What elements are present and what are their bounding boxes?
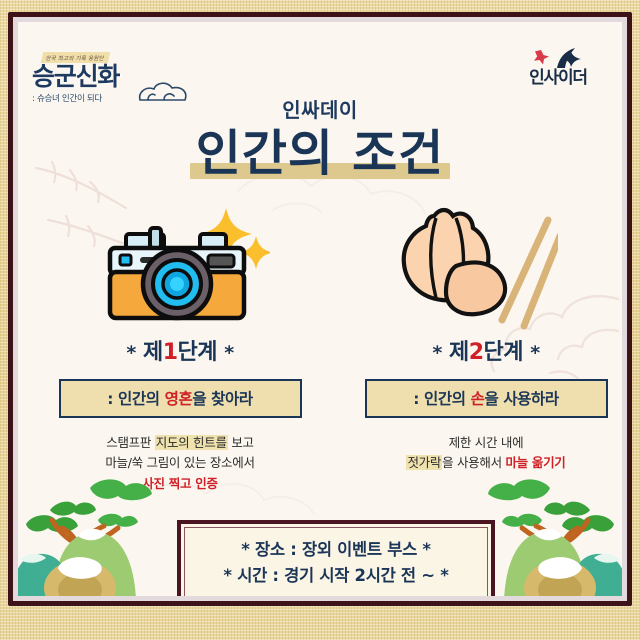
title-main-wrapper: 인간의 조건	[188, 128, 452, 181]
step-1-star-right: *	[224, 342, 233, 364]
logo-insider: 인사이더	[510, 46, 606, 87]
step-2-prefix: 제	[449, 340, 469, 365]
step-2-box-after: 을 사용하라	[484, 390, 558, 408]
illustration-row	[18, 202, 622, 330]
poster-canvas: 한국 최고의 기록 응원단 승군신화 : 슈승녀 인간이 되다	[18, 22, 622, 596]
step-1-number: 1	[163, 340, 178, 365]
title-subtitle: 인싸데이	[18, 94, 622, 123]
maroon-frame: 한국 최고의 기록 응원단 승군신화 : 슈승녀 인간이 되다	[8, 12, 632, 606]
desc-text: 보고	[228, 435, 254, 450]
step-1-suffix: 단계	[178, 340, 217, 365]
step-2-star-right: *	[530, 342, 539, 364]
step-2-box-highlight: 손	[471, 390, 485, 408]
event-info-inner: * 장소 : 장외 이벤트 부스 * * 시간 : 경기 시작 2시간 전 ~ …	[184, 527, 488, 596]
desc-marked: 지도의 힌트를	[155, 435, 228, 450]
garlic-chopsticks-icon	[378, 202, 558, 330]
info-line-location: * 장소 : 장외 이벤트 부스 *	[191, 537, 481, 563]
desc-text: 제한 시간 내에	[449, 435, 524, 450]
info-line-time: * 시간 : 경기 시작 2시간 전 ~ *	[191, 563, 481, 589]
step-2-heading: * 제2단계 *	[336, 334, 622, 366]
step-1-box-before: : 인간의	[107, 390, 164, 408]
step-1-prefix: 제	[143, 340, 163, 365]
step-2-star-left: *	[432, 342, 441, 364]
page-title: 인간의 조건	[188, 128, 452, 181]
logo-tagline: 한국 최고의 기록 응원단	[41, 52, 111, 63]
step-2-objective-box: : 인간의 손을 사용하라	[365, 379, 608, 418]
inner-frame: 한국 최고의 기록 응원단 승군신화 : 슈승녀 인간이 되다	[13, 17, 627, 601]
step-2-suffix: 단계	[484, 340, 523, 365]
poster-root: 한국 최고의 기록 응원단 승군신화 : 슈승녀 인간이 되다	[0, 0, 640, 640]
step-1-objective-box: : 인간의 영혼을 찾아라	[59, 379, 302, 418]
title-block: 인싸데이 인간의 조건	[18, 94, 622, 181]
desc-text: 스탬프판	[106, 435, 154, 450]
step-2-box-before: : 인간의	[413, 390, 470, 408]
desc-marked: 젓가락	[406, 455, 442, 470]
camera-icon	[104, 206, 270, 330]
logo-insider-name: 인사이더	[510, 70, 606, 87]
step-1-heading: * 제1단계 *	[30, 334, 330, 366]
step-1-box-after: 을 찾아라	[192, 390, 252, 408]
event-info-box: * 장소 : 장외 이벤트 부스 * * 시간 : 경기 시작 2시간 전 ~ …	[177, 520, 495, 596]
mountain-pine-icon-left	[18, 450, 202, 596]
step-1-box-highlight: 영혼	[165, 390, 193, 408]
step-1-star-left: *	[126, 342, 135, 364]
step-2-number: 2	[469, 340, 484, 365]
